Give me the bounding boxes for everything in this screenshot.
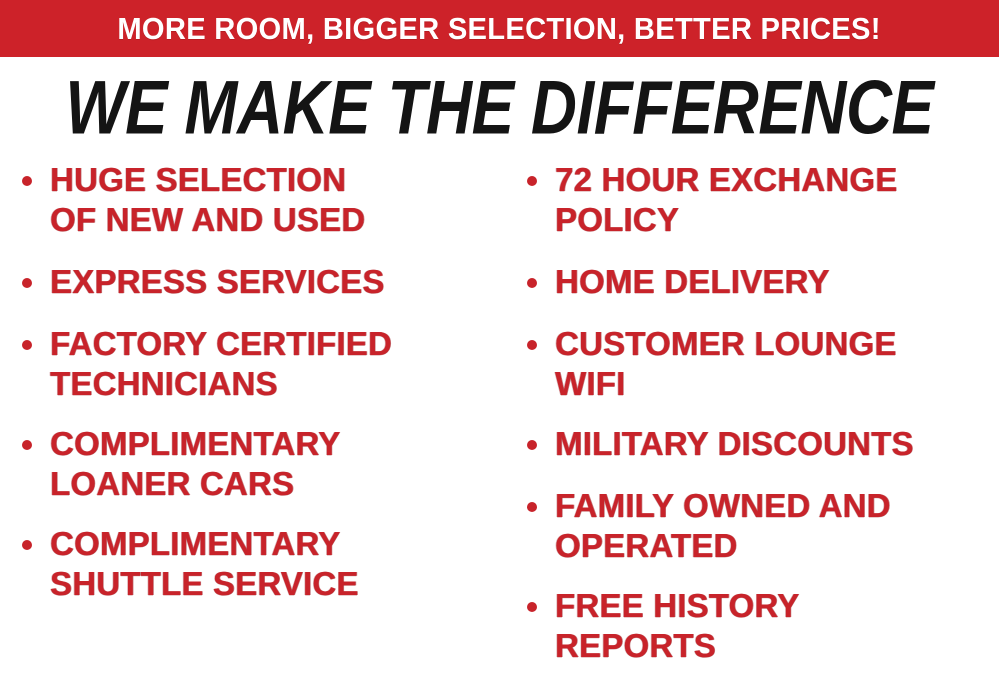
- list-item-label: FREE HISTORY REPORTS: [555, 586, 999, 666]
- bullet-dot-icon: [527, 340, 537, 350]
- list-item: HUGE SELECTION OF NEW AND USED: [14, 160, 500, 240]
- list-item-label: 72 HOUR EXCHANGE POLICY: [555, 160, 999, 240]
- list-item: COMPLIMENTARY LOANER CARS: [14, 424, 500, 504]
- bullet-dot-icon: [527, 502, 537, 512]
- promotional-poster: MORE ROOM, BIGGER SELECTION, BETTER PRIC…: [0, 0, 999, 692]
- list-item-label: COMPLIMENTARY SHUTTLE SERVICE: [50, 524, 500, 604]
- list-item: CUSTOMER LOUNGE WIFI: [517, 324, 999, 404]
- list-item-label: MILITARY DISCOUNTS: [555, 424, 999, 464]
- features-columns: HUGE SELECTION OF NEW AND USED EXPRESS S…: [0, 160, 999, 692]
- bullet-dot-icon: [22, 540, 32, 550]
- list-item-label: HUGE SELECTION OF NEW AND USED: [50, 160, 500, 240]
- list-item-label: FACTORY CERTIFIED TECHNICIANS: [50, 324, 500, 404]
- list-item-label: COMPLIMENTARY LOANER CARS: [50, 424, 500, 504]
- banner-headline-text: MORE ROOM, BIGGER SELECTION, BETTER PRIC…: [118, 13, 881, 44]
- bullet-dot-icon: [22, 440, 32, 450]
- bullet-dot-icon: [527, 602, 537, 612]
- features-column-left: HUGE SELECTION OF NEW AND USED EXPRESS S…: [14, 160, 500, 620]
- list-item: FAMILY OWNED AND OPERATED: [517, 486, 999, 566]
- page-title: WE MAKE THE DIFFERENCE: [65, 70, 933, 146]
- bullet-dot-icon: [22, 340, 32, 350]
- bullet-dot-icon: [22, 278, 32, 288]
- main-headline-area: WE MAKE THE DIFFERENCE: [0, 62, 999, 154]
- list-item: 72 HOUR EXCHANGE POLICY: [517, 160, 999, 240]
- list-item-label: HOME DELIVERY: [555, 262, 999, 302]
- list-item: EXPRESS SERVICES: [14, 262, 500, 302]
- list-item: MILITARY DISCOUNTS: [517, 424, 999, 464]
- list-item: HOME DELIVERY: [517, 262, 999, 302]
- list-item-label: EXPRESS SERVICES: [50, 262, 500, 302]
- list-item: COMPLIMENTARY SHUTTLE SERVICE: [14, 524, 500, 604]
- features-column-right: 72 HOUR EXCHANGE POLICY HOME DELIVERY CU…: [517, 160, 999, 682]
- list-item-label: CUSTOMER LOUNGE WIFI: [555, 324, 999, 404]
- list-item-label: FAMILY OWNED AND OPERATED: [555, 486, 999, 566]
- list-item: FACTORY CERTIFIED TECHNICIANS: [14, 324, 500, 404]
- bullet-dot-icon: [527, 176, 537, 186]
- bullet-dot-icon: [527, 440, 537, 450]
- list-item: FREE HISTORY REPORTS: [517, 586, 999, 666]
- bullet-dot-icon: [22, 176, 32, 186]
- bullet-dot-icon: [527, 278, 537, 288]
- top-banner: MORE ROOM, BIGGER SELECTION, BETTER PRIC…: [0, 0, 999, 57]
